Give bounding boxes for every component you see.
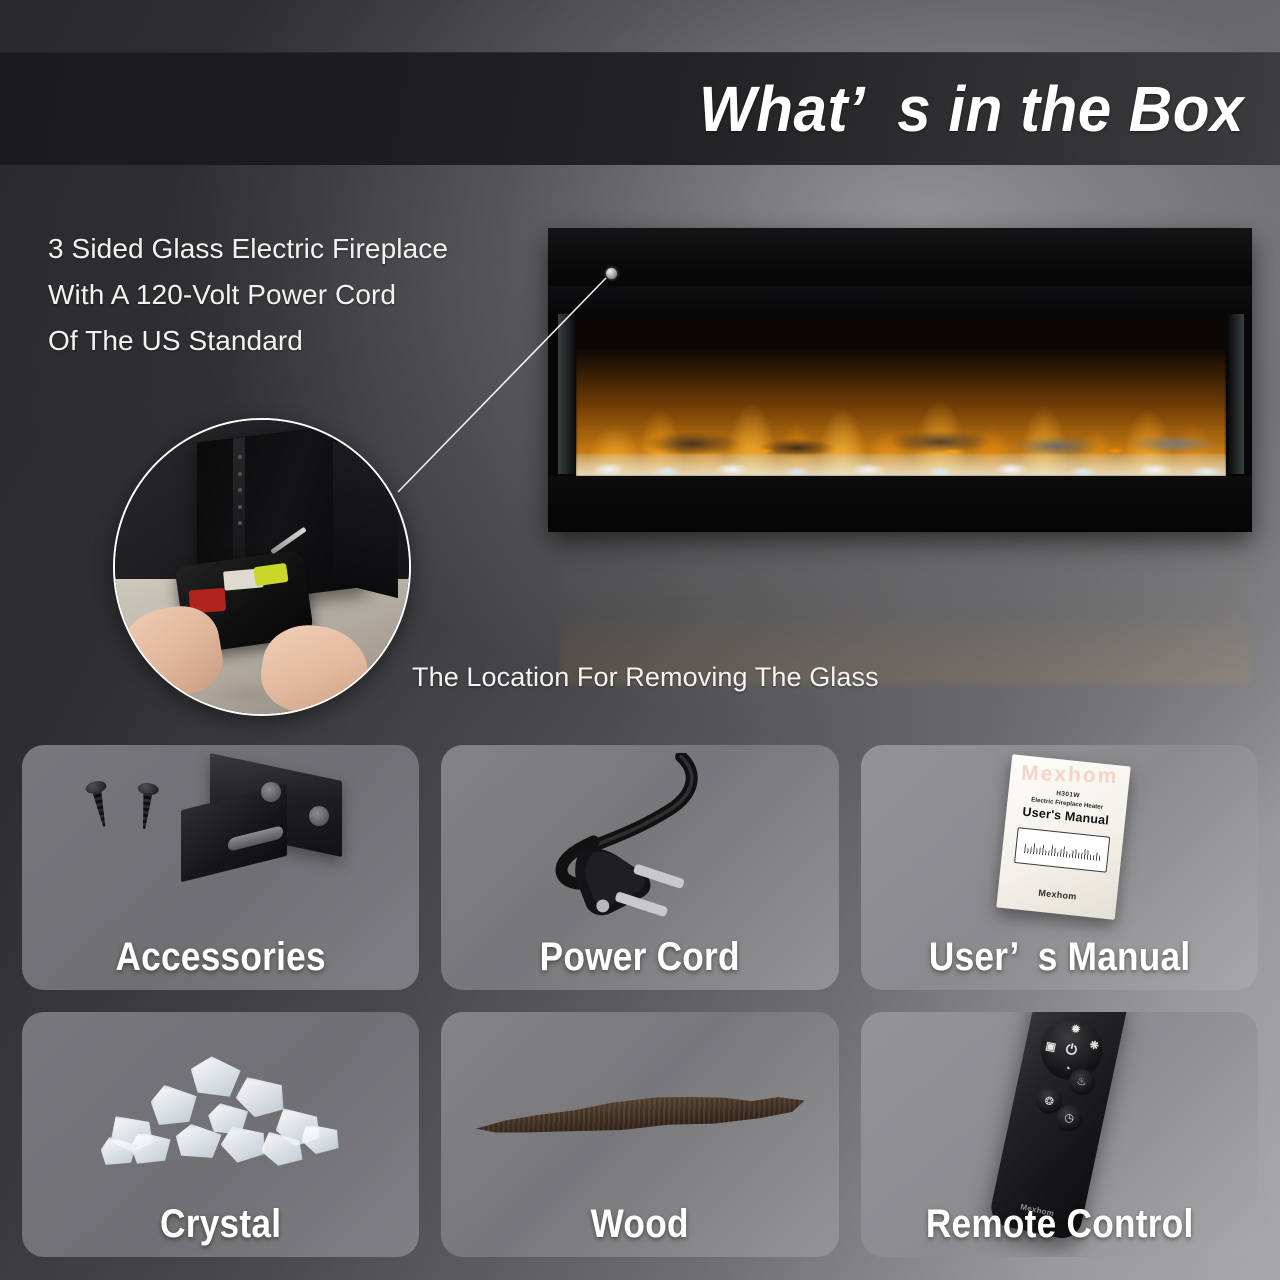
screw-icon (139, 782, 155, 829)
accessories-art (22, 753, 419, 928)
infographic-canvas: What’ s in the Box 3 Sided Glass Electri… (0, 0, 1280, 1280)
manual-brand: Mexhom (997, 884, 1117, 906)
crystal-bed (576, 454, 1226, 476)
brightness-button-icon[interactable]: ❋ (1089, 1040, 1100, 1053)
crystal-pile-icon (96, 1046, 346, 1176)
tile-label-remote-control: Remote Control (884, 1202, 1234, 1247)
header-band: What’ s in the Box (0, 52, 1280, 165)
glass-panel-right (1228, 314, 1244, 474)
drill-label (222, 569, 262, 592)
users-manual-art: Mexhom H301W Electric Fireplace Heater U… (861, 753, 1258, 928)
whats-in-box-grid: Accessories Power Cord (22, 745, 1258, 1257)
page-title: What’ s in the Box (699, 72, 1280, 146)
tile-label-accessories: Accessories (46, 935, 396, 980)
manual-fireplace-drawing (1014, 828, 1110, 873)
screw-icon (89, 780, 109, 827)
glass-panel-left (558, 314, 576, 474)
power-plug-icon (441, 753, 838, 928)
tile-users-manual[interactable]: Mexhom H301W Electric Fireplace Heater U… (861, 745, 1258, 990)
product-description: 3 Sided Glass Electric Fireplace With A … (48, 226, 568, 364)
screw-location-marker-icon (606, 268, 617, 279)
tile-wood[interactable]: Wood (441, 1012, 838, 1257)
photo-fireplace-side (333, 441, 398, 598)
mode-button-icon[interactable]: ▣ (1045, 1041, 1057, 1054)
description-line-2: With A 120-Volt Power Cord (48, 272, 568, 318)
wood-log-icon (474, 1074, 807, 1149)
fireplace-bottom-bar (548, 476, 1252, 532)
tile-label-wood: Wood (465, 1202, 815, 1247)
description-line-3: Of The US Standard (48, 318, 568, 364)
fireplace-product-image: C ✹ ❋ ✛ ❂ ❧ ◔ ⏻ (548, 228, 1252, 532)
manual-booklet-icon: Mexhom H301W Electric Fireplace Heater U… (996, 754, 1131, 920)
remote-control-art: ⏻ ✹ ❋ ▣ ◔ ♨ ❂ ◷ Mexhom (861, 1020, 1258, 1195)
tile-label-power-cord: Power Cord (465, 935, 815, 980)
tile-accessories[interactable]: Accessories (22, 745, 419, 990)
description-line-1: 3 Sided Glass Electric Fireplace (48, 226, 568, 272)
glass-removal-photo (113, 418, 411, 716)
power-button-icon[interactable]: ⏻ (1065, 1040, 1079, 1056)
firebox-cavity (576, 314, 1226, 476)
wood-art (441, 1020, 838, 1195)
timer-button-icon[interactable]: ◔ (1063, 1062, 1072, 1074)
fireplace-top-lip (548, 228, 1252, 286)
tile-label-crystal: Crystal (46, 1202, 396, 1247)
photo-caption: The Location For Removing The Glass (412, 662, 879, 693)
tile-power-cord[interactable]: Power Cord (441, 745, 838, 990)
crystal-art (22, 1020, 419, 1195)
tile-remote-control[interactable]: ⏻ ✹ ❋ ▣ ◔ ♨ ❂ ◷ Mexhom Remote Control (861, 1012, 1258, 1257)
tile-crystal[interactable]: Crystal (22, 1012, 419, 1257)
fireplace-top-bezel: C ✹ ❋ ✛ ❂ ❧ ◔ ⏻ (548, 286, 1252, 314)
tile-label-users-manual: User’ s Manual (884, 935, 1234, 980)
flame-button-icon[interactable]: ✹ (1070, 1023, 1081, 1036)
fireplace-body: C ✹ ❋ ✛ ❂ ❧ ◔ ⏻ (548, 228, 1252, 532)
power-cord-art (441, 753, 838, 928)
photo-control-buttons (236, 449, 245, 532)
mounting-bracket-icon (181, 767, 364, 876)
